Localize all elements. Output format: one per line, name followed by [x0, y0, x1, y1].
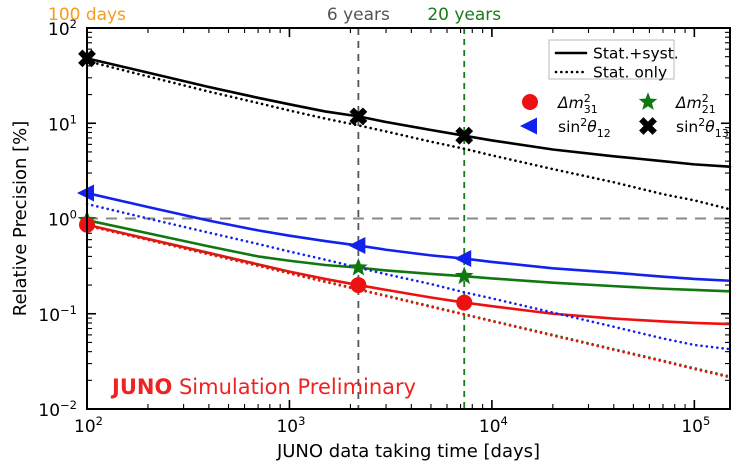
watermark: JUNO Simulation Preliminary — [110, 375, 416, 399]
y-axis-title: Relative Precision [%] — [10, 121, 31, 317]
legend-marker-circle — [522, 94, 538, 110]
marker-dm2-31-at-20y — [456, 295, 472, 311]
marker-dm2-31-at-6y — [350, 277, 366, 293]
legend-label-1: Stat. only — [593, 64, 667, 82]
guide-label-1: 6 years — [327, 5, 390, 25]
legend-label-0: Stat.+syst. — [593, 45, 679, 63]
chart-figure: 10210310410510−210−1100101102100 days6 y… — [0, 0, 747, 467]
x-axis-title: JUNO data taking time [days] — [276, 441, 540, 462]
guide-label-0: 100 days — [48, 5, 126, 25]
plot-svg: 10210310410510−210−1100101102100 days6 y… — [0, 0, 747, 467]
guide-label-2: 20 years — [427, 5, 501, 25]
